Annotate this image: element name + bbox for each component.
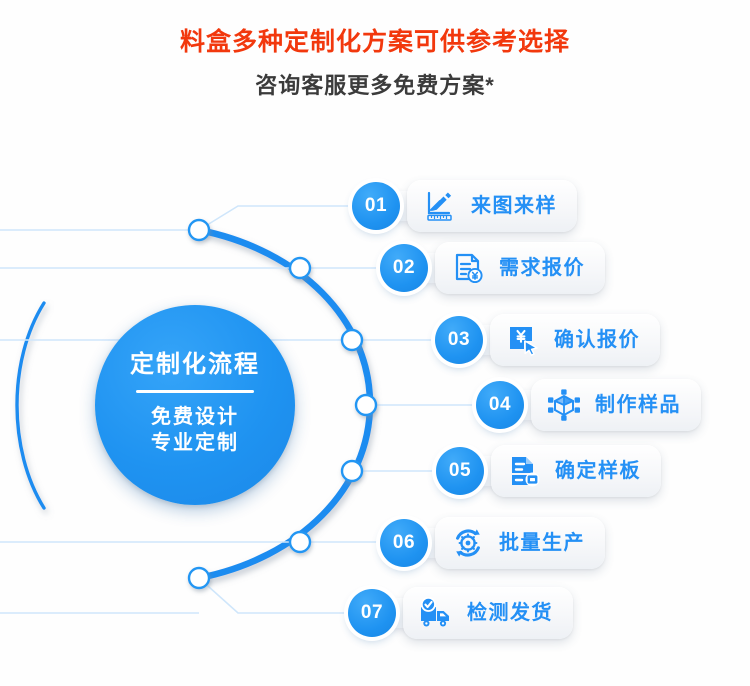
hub-divider [136, 390, 254, 393]
infographic-canvas: 料盒多种定制化方案可供参考选择 咨询客服更多免费方案* [0, 0, 750, 686]
step-body[interactable]: 制作样品 [531, 379, 701, 431]
step-body[interactable]: 确定样板 [491, 445, 661, 497]
3d-model-nodes-icon [547, 388, 581, 422]
decorative-left-arc [17, 303, 44, 508]
hub-line-2: 专业定制 [151, 431, 239, 457]
step-body[interactable]: 来图来样 [407, 180, 577, 232]
step-item-05[interactable]: 05 确定样板 [436, 445, 661, 497]
template-document-icon [507, 454, 541, 488]
flow-node-02 [290, 258, 310, 278]
step-label: 来图来样 [471, 196, 557, 216]
step-label: 制作样品 [595, 395, 681, 415]
yen-cursor-icon [506, 323, 540, 357]
step-number-badge: 03 [435, 316, 483, 364]
hub-line-1: 免费设计 [151, 405, 239, 431]
step-item-02[interactable]: 02 需求报价 [380, 242, 605, 294]
step-item-06[interactable]: 06 批量生产 [380, 517, 605, 569]
gear-cycle-icon [451, 526, 485, 560]
step-number-badge: 01 [352, 182, 400, 230]
step-number-badge: 04 [476, 381, 524, 429]
step-body[interactable]: 检测发货 [403, 587, 573, 639]
step-label: 检测发货 [467, 603, 553, 623]
step-item-07[interactable]: 07 检测发货 [348, 587, 573, 639]
flow-node-04 [356, 395, 376, 415]
step-label: 需求报价 [499, 258, 585, 278]
document-yen-icon [451, 251, 485, 285]
flow-node-03 [342, 330, 362, 350]
step-number-badge: 02 [380, 244, 428, 292]
step-number-badge: 05 [436, 447, 484, 495]
step-label: 批量生产 [499, 533, 585, 553]
connector-07 [199, 578, 368, 613]
flow-node-07 [189, 568, 209, 588]
step-label: 确定样板 [555, 461, 641, 481]
flow-node-06 [290, 532, 310, 552]
step-number-badge: 07 [348, 589, 396, 637]
delivery-truck-check-icon [419, 596, 453, 630]
step-item-04[interactable]: 04 制作样品 [476, 379, 701, 431]
step-body[interactable]: 确认报价 [490, 314, 660, 366]
header: 料盒多种定制化方案可供参考选择 咨询客服更多免费方案* [0, 0, 750, 97]
step-number-badge: 06 [380, 519, 428, 567]
step-item-01[interactable]: 01 来图来样 [352, 180, 577, 232]
hub-title: 定制化流程 [130, 353, 260, 377]
step-body[interactable]: 需求报价 [435, 242, 605, 294]
flow-node-01 [189, 220, 209, 240]
step-label: 确认报价 [554, 330, 640, 350]
flow-node-05 [342, 461, 362, 481]
connector-01 [199, 206, 372, 230]
drawing-ruler-pencil-icon [423, 189, 457, 223]
step-body[interactable]: 批量生产 [435, 517, 605, 569]
process-hub: 定制化流程 免费设计 专业定制 [95, 305, 295, 505]
step-item-03[interactable]: 03 确认报价 [435, 314, 660, 366]
page-subtitle: 咨询客服更多免费方案* [0, 75, 750, 97]
page-title: 料盒多种定制化方案可供参考选择 [0, 30, 750, 55]
